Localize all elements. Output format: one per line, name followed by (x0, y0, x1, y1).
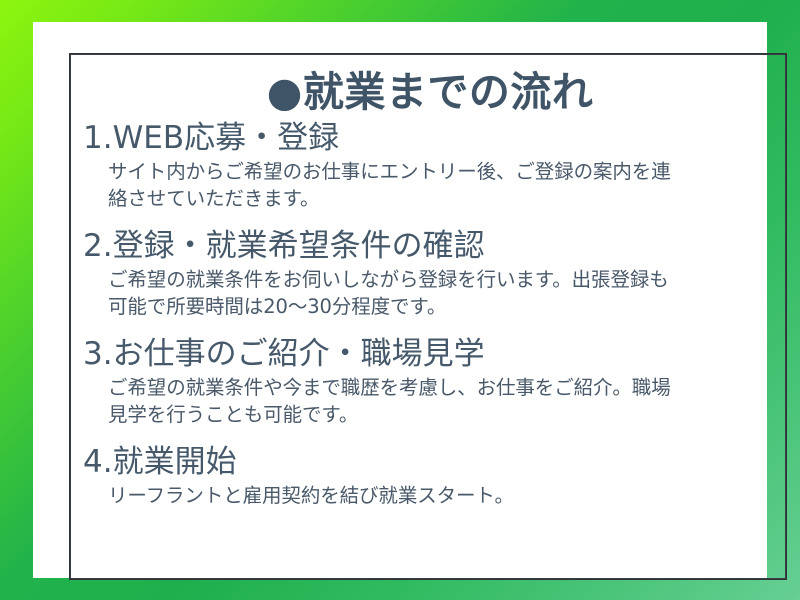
step-body-line: ご希望の就業条件や今まで職歴を考慮し、お仕事をご紹介。職場 (108, 375, 779, 402)
step-body-line: 可能で所要時間は20〜30分程度です。 (108, 294, 779, 321)
poster-container: ●就業までの流れ 1.WEB応募・登録 サイト内からご希望のお仕事にエントリー後… (0, 0, 800, 600)
step-spacer (77, 214, 783, 227)
white-card: ●就業までの流れ 1.WEB応募・登録 サイト内からご希望のお仕事にエントリー後… (33, 22, 767, 578)
step-body-4: リーフラントと雇用契約を結び就業スタート。 (77, 483, 783, 510)
page-title: ●就業までの流れ (77, 72, 783, 113)
step-body-line: 見学を行うことも可能です。 (108, 402, 779, 429)
poster-content: ●就業までの流れ 1.WEB応募・登録 サイト内からご希望のお仕事にエントリー後… (77, 62, 783, 574)
step-body-line: リーフラントと雇用契約を結び就業スタート。 (108, 483, 779, 510)
step-body-1: サイト内からご希望のお仕事にエントリー後、ご登録の案内を連 絡させていただきます… (77, 159, 783, 212)
step-heading-2: 2.登録・就業希望条件の確認 (77, 227, 783, 266)
step-body-line: 絡させていただきます。 (108, 186, 779, 213)
step-item-1: 1.WEB応募・登録 サイト内からご希望のお仕事にエントリー後、ご登録の案内を連… (77, 119, 783, 212)
step-body-line: ご希望の就業条件をお伺いしながら登録を行います。出張登録も (108, 267, 779, 294)
step-item-3: 3.お仕事のご紹介・職場見学 ご希望の就業条件や今まで職歴を考慮し、お仕事をご紹… (77, 335, 783, 428)
step-heading-1: 1.WEB応募・登録 (77, 119, 783, 158)
step-heading-4: 4.就業開始 (77, 443, 783, 482)
step-body-2: ご希望の就業条件をお伺いしながら登録を行います。出張登録も 可能で所要時間は20… (77, 267, 783, 320)
step-spacer (77, 322, 783, 335)
step-item-4: 4.就業開始 リーフラントと雇用契約を結び就業スタート。 (77, 443, 783, 510)
step-body-line: サイト内からご希望のお仕事にエントリー後、ご登録の案内を連 (108, 159, 779, 186)
step-heading-3: 3.お仕事のご紹介・職場見学 (77, 335, 783, 374)
step-body-3: ご希望の就業条件や今まで職歴を考慮し、お仕事をご紹介。職場 見学を行うことも可能… (77, 375, 783, 428)
step-item-2: 2.登録・就業希望条件の確認 ご希望の就業条件をお伺いしながら登録を行います。出… (77, 227, 783, 320)
step-spacer (77, 430, 783, 443)
